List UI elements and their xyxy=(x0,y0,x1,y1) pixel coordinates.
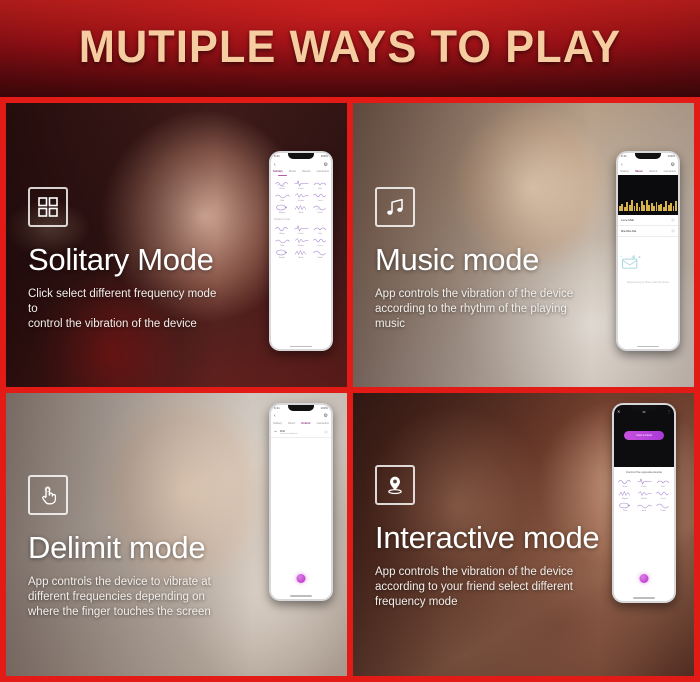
pattern-label: Wave xyxy=(622,486,628,488)
pattern-item[interactable]: Ripple xyxy=(273,204,291,214)
desc-line: control the vibration of the device xyxy=(28,317,227,332)
panel-solitary-mode: Solitary Mode Click select different fre… xyxy=(6,103,347,387)
touch-point-dot[interactable] xyxy=(297,574,306,583)
pattern-item[interactable]: Swell xyxy=(311,204,329,214)
pattern-label: Pulse xyxy=(641,486,646,488)
app-top-bar: ‹ ⚙ xyxy=(618,160,678,169)
phone-mockup-delimit: 9:41 100% ‹ ⚙ Solitary Music Delimit Int… xyxy=(269,403,333,601)
panel-copy-solitary: Solitary Mode Click select different fre… xyxy=(28,187,227,332)
control-heading: Control the opposite device xyxy=(614,467,674,475)
phone-mockup-solitary: 9:41 100% ‹ ⚙ Solitary Music Delimit Int… xyxy=(269,151,333,351)
pattern-label: Swell xyxy=(317,212,322,214)
poster: MUTIPLE WAYS TO PLAY Solitary Mode Click… xyxy=(0,0,700,682)
pattern-label: Flutter xyxy=(298,245,304,247)
pattern-label: Ripple xyxy=(279,212,285,214)
pattern-label: Beat xyxy=(299,212,304,214)
tab-solitary[interactable]: Solitary xyxy=(273,170,283,173)
pattern-label: Surf xyxy=(318,188,322,190)
remote-pattern-grid[interactable]: Wave Pulse Surf Ripple Flutter Crest Tid… xyxy=(614,475,674,515)
tab-interactive[interactable]: Interactive xyxy=(664,170,676,173)
pattern-label: Wave xyxy=(279,233,285,235)
pattern-label: Beat xyxy=(642,510,647,512)
song-list-item[interactable]: Ria Ria Ria ▷ xyxy=(618,226,678,237)
pattern-item[interactable]: Beat xyxy=(635,502,653,512)
panel-description-music: App controls the vibration of the device… xyxy=(375,287,574,332)
tab-delimit[interactable]: Delimit xyxy=(302,170,310,173)
pattern-item[interactable]: Wave xyxy=(616,478,634,488)
page-title: MUTIPLE WAYS TO PLAY xyxy=(14,18,686,76)
phone-notch xyxy=(288,153,314,159)
tab-solitary[interactable]: Solitary xyxy=(273,422,282,425)
tab-interactive[interactable]: Interactive xyxy=(317,170,329,173)
pattern-label: Beat xyxy=(299,257,304,259)
panel-title-delimit: Delimit mode xyxy=(28,531,227,565)
panel-title-music: Music mode xyxy=(375,243,574,277)
tab-music[interactable]: Music xyxy=(288,422,295,425)
back-icon[interactable]: ‹ xyxy=(274,414,276,419)
pattern-item[interactable]: Pulse xyxy=(635,478,653,488)
app-top-bar: ‹ ⚙ xyxy=(271,412,331,421)
panel-description-delimit: App controls the device to vibrate at di… xyxy=(28,575,227,620)
tab-delimit[interactable]: Delimit xyxy=(301,422,310,425)
pattern-item[interactable]: Beat xyxy=(292,249,310,259)
status-battery: 100% xyxy=(668,155,675,158)
phone-mockup-interactive: ✕ ☰ ⋮ Invite a friend Control the opposi… xyxy=(612,403,676,603)
pattern-label: Flutter xyxy=(641,498,647,500)
pattern-item[interactable]: Tide xyxy=(273,237,291,247)
panel-delimit-mode: Delimit mode App controls the device to … xyxy=(6,393,347,677)
status-time: 9:41 xyxy=(621,155,627,158)
home-indicator xyxy=(633,597,655,599)
desc-line: App controls the device to vibrate at xyxy=(28,575,227,590)
desc-line: App controls the vibration of the device xyxy=(375,287,574,302)
pattern-item[interactable]: Pulse xyxy=(292,225,310,235)
panel-copy-delimit: Delimit mode App controls the device to … xyxy=(28,475,227,620)
status-time: 9:41 xyxy=(274,407,280,410)
poster-header: MUTIPLE WAYS TO PLAY xyxy=(0,0,700,97)
close-icon[interactable]: ✕ xyxy=(617,409,620,414)
tab-interactive[interactable]: Interactive xyxy=(317,422,329,425)
pattern-item[interactable]: Swell xyxy=(654,502,672,512)
location-pin-icon xyxy=(375,465,415,505)
home-indicator xyxy=(637,346,659,348)
chevron-right-icon[interactable]: ▷ xyxy=(325,429,328,434)
pattern-label: Ripple xyxy=(279,257,285,259)
desc-line: according to your friend select differen… xyxy=(375,580,574,595)
song-title: Love Mail xyxy=(621,218,634,222)
play-icon[interactable]: ▷ xyxy=(672,217,675,222)
app-top-bar: ‹ ⚙ xyxy=(271,160,331,169)
feature-grid: Solitary Mode Click select different fre… xyxy=(0,97,700,682)
pattern-item[interactable]: Ripple xyxy=(616,490,634,500)
pattern-item[interactable]: Crest xyxy=(311,192,329,202)
pattern-label: Tide xyxy=(280,245,284,247)
desc-line: Click select different frequency mode to xyxy=(28,287,227,317)
panel-copy-music: Music mode App controls the vibration of… xyxy=(375,187,574,332)
desc-line: according to the rhythm of the playing m… xyxy=(375,302,574,332)
tab-music[interactable]: Music xyxy=(635,170,643,173)
status-battery: 100% xyxy=(321,155,328,158)
device-row[interactable]: ⌁ Doll Connected device ▷ xyxy=(271,426,331,438)
music-hint-text: Select a song to share it with the devic… xyxy=(618,281,678,284)
touch-canvas[interactable] xyxy=(271,438,331,599)
pattern-label: Tide xyxy=(280,200,284,202)
panel-music-mode: Music mode App controls the vibration of… xyxy=(353,103,694,387)
panel-description-solitary: Click select different frequency mode to… xyxy=(28,287,227,332)
desc-line: App controls the vibration of the device xyxy=(375,565,574,580)
pattern-label: Tide xyxy=(623,510,627,512)
pattern-label: Crest xyxy=(317,245,322,247)
pattern-label: Flutter xyxy=(298,200,304,202)
play-icon[interactable]: ▷ xyxy=(672,228,675,233)
home-indicator xyxy=(290,346,312,348)
more-icon[interactable]: ⋮ xyxy=(667,409,671,414)
invite-panel: ✕ ☰ ⋮ Invite a friend xyxy=(614,405,674,467)
visualizer-bars xyxy=(618,199,678,211)
panel-copy-interactive: Interactive mode App controls the vibrat… xyxy=(375,465,574,610)
pattern-item[interactable]: Crest xyxy=(654,490,672,500)
pattern-label: Swell xyxy=(660,510,665,512)
back-icon[interactable]: ‹ xyxy=(274,163,276,168)
status-time: 9:41 xyxy=(274,155,280,158)
song-list-item[interactable]: Love Mail ▷ xyxy=(618,215,678,226)
back-icon[interactable]: ‹ xyxy=(621,163,623,168)
tab-solitary[interactable]: Solitary xyxy=(620,170,629,173)
phone-notch xyxy=(635,153,661,159)
pattern-label: Swell xyxy=(317,257,322,259)
desc-line: frequency mode xyxy=(375,595,574,610)
music-note-icon xyxy=(375,187,415,227)
pattern-item[interactable]: Swell xyxy=(311,249,329,259)
app-tabs-solitary[interactable]: Solitary Music Delimit Interactive xyxy=(271,169,331,175)
vibration-pattern-grid[interactable]: Wave Pulse Surf Tide Flutter Crest Rippl… xyxy=(271,177,331,217)
pattern-item[interactable]: Crest xyxy=(311,237,329,247)
desc-line: different frequencies depending on xyxy=(28,590,227,605)
song-title: Ria Ria Ria xyxy=(621,229,636,233)
grid-four-squares-icon xyxy=(28,187,68,227)
phone-notch xyxy=(288,405,314,411)
pattern-item[interactable]: Wave xyxy=(273,180,291,190)
desc-line: where the finger touches the screen xyxy=(28,605,227,620)
pattern-item[interactable]: Wave xyxy=(273,225,291,235)
pattern-item[interactable]: Tide xyxy=(273,192,291,202)
invite-friend-button[interactable]: Invite a friend xyxy=(624,431,664,440)
pattern-item[interactable]: Flutter xyxy=(635,490,653,500)
pattern-label: Crest xyxy=(317,200,322,202)
touch-hand-icon xyxy=(28,475,68,515)
status-battery: 100% xyxy=(321,407,328,410)
panel-title-solitary: Solitary Mode xyxy=(28,243,227,277)
vibration-pattern-grid-2[interactable]: Wave Pulse Surf Tide Flutter Crest Rippl… xyxy=(271,222,331,262)
pattern-item[interactable]: Flutter xyxy=(292,192,310,202)
remote-canvas[interactable] xyxy=(614,515,674,601)
gear-icon[interactable]: ⚙ xyxy=(324,414,328,419)
device-status: Connected device xyxy=(280,433,322,435)
pattern-label: Crest xyxy=(660,498,665,500)
music-illustration-icon xyxy=(618,253,644,273)
panel-interactive-mode: Interactive mode App controls the vibrat… xyxy=(353,393,694,677)
touch-point-dot[interactable] xyxy=(640,574,649,583)
tab-delimit[interactable]: Delimit xyxy=(649,170,657,173)
pattern-label: Pulse xyxy=(298,233,303,235)
gear-icon[interactable]: ⚙ xyxy=(671,163,675,168)
pattern-item[interactable]: Ripple xyxy=(273,249,291,259)
pattern-item[interactable]: Flutter xyxy=(292,237,310,247)
panel-title-interactive: Interactive mode xyxy=(375,521,574,555)
phone-mockup-music: 9:41 100% ‹ ⚙ Solitary Music Delimit Int… xyxy=(616,151,680,351)
tab-active-underline xyxy=(278,175,287,176)
panel-description-interactive: App controls the vibration of the device… xyxy=(375,565,574,610)
pattern-label: Surf xyxy=(318,233,322,235)
pattern-label: Surf xyxy=(661,486,665,488)
device-icon: ⌁ xyxy=(274,429,277,435)
pattern-item[interactable]: Surf xyxy=(311,225,329,235)
pattern-label: Wave xyxy=(279,188,285,190)
audio-visualizer xyxy=(618,175,678,215)
pattern-label: Ripple xyxy=(622,498,628,500)
gear-icon[interactable]: ⚙ xyxy=(324,163,328,168)
pattern-item[interactable]: Surf xyxy=(311,180,329,190)
pattern-item[interactable]: Pulse xyxy=(292,180,310,190)
pattern-item[interactable]: Beat xyxy=(292,204,310,214)
pattern-label: Pulse xyxy=(298,188,303,190)
pattern-item[interactable]: Tide xyxy=(616,502,634,512)
home-indicator xyxy=(290,595,312,597)
pattern-item[interactable]: Surf xyxy=(654,478,672,488)
phone-notch xyxy=(631,405,657,411)
tab-music[interactable]: Music xyxy=(289,170,296,173)
